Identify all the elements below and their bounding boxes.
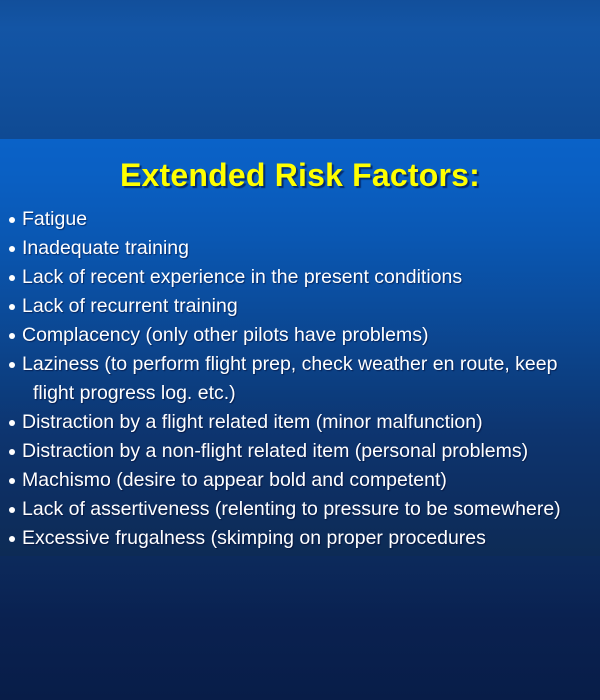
list-item-label: Fatigue [22,208,87,230]
list-item: Lack of recent experience in the present… [0,263,600,292]
bullet-dot-icon [9,478,15,484]
list-item-label: Distraction by a flight related item (mi… [22,411,483,433]
list-item: Distraction by a non-flight related item… [0,437,600,466]
list-item-label: flight progress log. etc.) [33,382,236,404]
list-item: Lack of assertiveness (relenting to pres… [0,495,600,524]
bullet-dot-icon [9,536,15,542]
slide-bottom-band [0,556,600,700]
list-item: Fatigue [0,205,600,234]
list-item: Lack of recurrent training [0,292,600,321]
bullet-dot-icon [9,362,15,368]
list-item-label: Laziness (to perform flight prep, check … [22,353,557,375]
list-item-label: Complacency (only other pilots have prob… [22,324,428,346]
bullet-dot-icon [9,275,15,281]
risk-factor-bullet-list: Fatigue Inadequate training Lack of rece… [0,205,600,553]
slide-canvas: Extended Risk Factors: Fatigue Inadequat… [0,0,600,700]
list-item: Machismo (desire to appear bold and comp… [0,466,600,495]
list-item: Inadequate training [0,234,600,263]
list-item-label: Machismo (desire to appear bold and comp… [22,469,447,491]
list-item: Excessive frugalness (skimping on proper… [0,524,600,553]
list-item-label: Lack of recent experience in the present… [22,266,462,288]
list-item-label: Lack of assertiveness (relenting to pres… [22,498,561,520]
slide-content-area: Extended Risk Factors: Fatigue Inadequat… [0,139,600,556]
bullet-dot-icon [9,304,15,310]
bullet-dot-icon [9,333,15,339]
bullet-dot-icon [9,420,15,426]
bullet-dot-icon [9,507,15,513]
list-item-label: Inadequate training [22,237,189,259]
list-item: Distraction by a flight related item (mi… [0,408,600,437]
list-item-label: Excessive frugalness (skimping on proper… [22,527,486,549]
bullet-dot-icon [9,217,15,223]
list-item-label: Lack of recurrent training [22,295,238,317]
list-item-label: Distraction by a non-flight related item… [22,440,528,462]
list-item: Laziness (to perform flight prep, check … [0,350,600,379]
bullet-dot-icon [9,449,15,455]
bullet-dot-icon [9,246,15,252]
slide-top-band [0,0,600,139]
slide-title: Extended Risk Factors: [0,157,600,194]
list-item: Complacency (only other pilots have prob… [0,321,600,350]
list-item-continuation: flight progress log. etc.) [0,379,600,408]
